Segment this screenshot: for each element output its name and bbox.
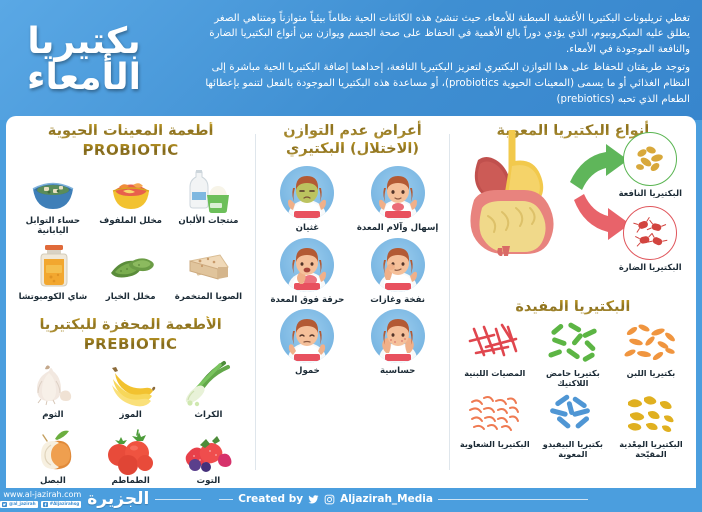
food-label: الطماطم [92, 476, 170, 486]
list-item: البصل [14, 423, 92, 486]
section-title-symptoms-line-1: أعراض عدم التوازن [256, 116, 448, 140]
bacteria-label: بكتيريا اللبن [612, 369, 690, 379]
instagram-icon[interactable] [324, 494, 335, 505]
lactococcus-icon [456, 320, 534, 368]
list-item: الموز [92, 357, 170, 420]
woman-allergy-icon [371, 309, 425, 363]
section-title-symptoms-line-2: (الاختلال) البكتيري [256, 140, 448, 158]
footer-facebook-chip[interactable]: #Aljazirahsg [41, 501, 82, 508]
food-label: البصل [14, 476, 92, 486]
type-item-bad: البكتيريا الضارة [619, 206, 682, 272]
bifidobacterium-icon [534, 391, 612, 439]
section-prebiotic: الأطعمة المحفزة للبكتيريا PREBIOTIC [6, 302, 255, 486]
lactobacillus-icon [612, 320, 690, 368]
footer-created-by-label: Created by [238, 493, 303, 505]
food-label: الكراث [170, 410, 248, 420]
bacteria-label: بكتيريا حامض اللاكتيك [534, 369, 612, 389]
page-title-line-1: بكتيريا [27, 21, 140, 62]
header-intro: تغطي تريليونات البكتيريا الأغشية المبطنة… [176, 5, 702, 116]
aljazirah-logo: الجزيرة [87, 489, 149, 509]
list-item: شاي الكومبوتشا [14, 239, 92, 302]
footer-site-block: www.al-jazirah.com @al_jazirah #Aljazira… [0, 490, 81, 508]
streptococcus-icon [612, 391, 690, 439]
list-item: غثيان [262, 166, 352, 233]
symptom-label: نفخة وغازات [353, 295, 443, 305]
footer-credit: Created by Aljazirah_Media [209, 493, 702, 505]
actinobacteria-icon [456, 391, 534, 439]
list-item: بكتيريا حامض اللاكتيك [534, 320, 612, 389]
food-label: مخلل الخيار [92, 292, 170, 302]
food-label: شاي الكومبوتشا [14, 292, 92, 302]
miso-soup-icon [14, 163, 92, 215]
list-item: البكتيريا المِعْدية المقيّحة [612, 391, 690, 460]
list-item: مخلل الملفوف [92, 163, 170, 237]
bacteria-label: المصيات اللبنية [456, 369, 534, 379]
garlic-icon [14, 357, 92, 409]
footer-handle[interactable]: Aljazirah_Media [340, 493, 433, 505]
food-label: التوت [170, 476, 248, 486]
list-item: خمول [262, 309, 352, 376]
header: تغطي تريليونات البكتيريا الأغشية المبطنة… [0, 0, 702, 120]
probiotic-grid: منتجات الألبان [6, 159, 255, 302]
section-subtitle-prebiotic: PREBIOTIC [6, 335, 255, 353]
prebiotic-grid: الكراث [6, 353, 255, 486]
onion-icon [14, 423, 92, 475]
dairy-icon [170, 163, 248, 215]
bad-bacteria-icon [623, 206, 677, 260]
list-item: إسهال وآلام المعدة [353, 166, 443, 233]
food-label: منتجات الألبان [170, 216, 248, 226]
intro-paragraph-2: وتوجد طريقتان للحفاظ على هذا التوازن الب… [190, 60, 690, 107]
type-item-good: البكتيريا النافعة [619, 132, 682, 198]
footer-social-chips: @al_jazirah #Aljazirahsg [0, 501, 81, 508]
good-bacteria-icon [623, 132, 677, 186]
food-label: حساء التوابل اليابانية [14, 216, 92, 237]
symptom-label: غثيان [262, 223, 352, 233]
footer: Created by Aljazirah_Media www.al-jazira… [0, 486, 702, 512]
type-label-good: البكتيريا النافعة [619, 188, 682, 198]
list-item: نفخة وغازات [353, 238, 443, 305]
bacteria-label: بكتيريا البيفيدو المعوية [534, 440, 612, 460]
section-beneficial-bacteria: البكتيريا المفيدة [450, 284, 696, 460]
section-title-prebiotic: الأطعمة المحفزة للبكتيريا [6, 316, 255, 334]
banana-icon [92, 357, 170, 409]
footer-rule-left [219, 499, 233, 500]
list-item: الطماطم [92, 423, 170, 486]
digestive-system-icon [458, 130, 570, 260]
kombucha-icon [14, 239, 92, 291]
list-item: الثوم [14, 357, 92, 420]
list-item: المصيات اللبنية [456, 320, 534, 389]
woman-nausea-icon [280, 166, 334, 220]
list-item: حساء التوابل اليابانية [14, 163, 92, 237]
symptoms-grid: إسهال وآلام المعدة [256, 158, 448, 376]
list-item: منتجات الألبان [170, 163, 248, 237]
pickles-icon [92, 239, 170, 291]
bacteria-label: البكتيريا الشعاوية [456, 440, 534, 450]
list-item: بكتيريا البيفيدو المعوية [534, 391, 612, 460]
list-item: البكتيريا الشعاوية [456, 391, 534, 460]
symptom-label: حساسية [353, 366, 443, 376]
column-foods: أطعمة المعينات الحيوية PROBIOTIC [6, 116, 255, 488]
food-label: الصويا المتخمرة [170, 292, 248, 302]
list-item: حساسية [353, 309, 443, 376]
section-title-probiotic: أطعمة المعينات الحيوية [6, 122, 255, 140]
symptom-label: إسهال وآلام المعدة [353, 223, 443, 233]
footer-brand: www.al-jazirah.com @al_jazirah #Aljazira… [0, 489, 209, 509]
page-title: بكتيريا الأمعاء [0, 24, 176, 96]
symptom-label: خمول [262, 366, 352, 376]
footer-facebook-handle: #Aljazirahsg [50, 502, 80, 506]
content-panel: أنواع البكتيريا المعوية [6, 116, 696, 488]
symptom-label: حرقة فوق المعدة [262, 295, 352, 305]
food-label: الموز [92, 410, 170, 420]
footer-twitter-handle: @al_jazirah [9, 502, 36, 506]
footer-website[interactable]: www.al-jazirah.com [0, 490, 81, 500]
column-symptoms: أعراض عدم التوازن (الاختلال) البكتيري [256, 116, 448, 488]
lactic-acid-bacteria-icon [534, 320, 612, 368]
bacteria-label: البكتيريا المِعْدية المقيّحة [612, 440, 690, 460]
footer-twitter-chip[interactable]: @al_jazirah [0, 501, 38, 508]
section-probiotic: أطعمة المعينات الحيوية PROBIOTIC [6, 116, 255, 302]
food-label: مخلل الملفوف [92, 216, 170, 226]
twitter-icon[interactable] [308, 494, 319, 505]
food-label: الثوم [14, 410, 92, 420]
section-bacteria-types: أنواع البكتيريا المعوية [450, 116, 696, 284]
section-title-beneficial: البكتيريا المفيدة [450, 298, 696, 316]
type-circles-group: البكتيريا النافعة [619, 132, 682, 280]
woman-bloating-icon [371, 238, 425, 292]
type-label-bad: البكتيريا الضارة [619, 262, 682, 272]
woman-stomach-pain-icon [371, 166, 425, 220]
footer-rule-tail [155, 499, 201, 500]
list-item: الصويا المتخمرة [170, 239, 248, 302]
sauerkraut-icon [92, 163, 170, 215]
list-item: مخلل الخيار [92, 239, 170, 302]
beneficial-grid: بكتيريا اللبن [450, 316, 696, 459]
footer-rule-right [438, 499, 588, 500]
intro-paragraph-1: تغطي تريليونات البكتيريا الأغشية المبطنة… [190, 11, 690, 58]
leek-icon [170, 357, 248, 409]
list-item: بكتيريا اللبن [612, 320, 690, 389]
berries-icon [170, 423, 248, 475]
tempeh-icon [170, 239, 248, 291]
column-bacteria-types: أنواع البكتيريا المعوية [450, 116, 696, 488]
list-item: التوت [170, 423, 248, 486]
tomato-icon [92, 423, 170, 475]
infographic-poster: تغطي تريليونات البكتيريا الأغشية المبطنة… [0, 0, 702, 512]
list-item: حرقة فوق المعدة [262, 238, 352, 305]
woman-heartburn-icon [280, 238, 334, 292]
list-item: الكراث [170, 357, 248, 420]
page-title-line-2: الأمعاء [0, 60, 168, 96]
section-subtitle-probiotic: PROBIOTIC [6, 141, 255, 159]
woman-fatigue-icon [280, 309, 334, 363]
